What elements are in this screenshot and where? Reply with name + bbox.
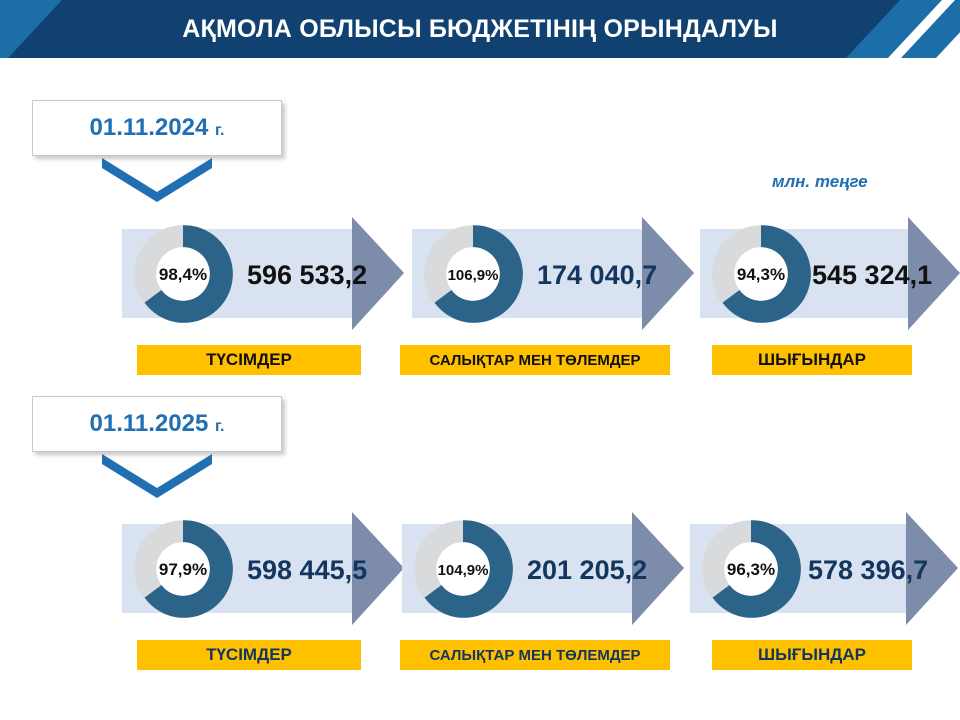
amount-value: 201 205,2 — [527, 552, 647, 588]
category-label-text: ТҮСІМДЕР — [206, 350, 292, 370]
category-label-bar: ТҮСІМДЕР — [137, 345, 361, 375]
page-title: АҚМОЛА ОБЛЫСЫ БЮДЖЕТІНІҢ ОРЫНДАЛУЫ — [0, 0, 960, 58]
date-group-row-1: 01.11.2024 г. — [32, 100, 282, 156]
category-label-bar: САЛЫҚТАР МЕН ТӨЛЕМДЕР — [400, 640, 670, 670]
metric-card-row2-col1: 97,9% 598 445,5 ТҮСІМДЕР — [122, 508, 412, 673]
percent-value: 94,3% — [700, 261, 822, 289]
percent-value: 104,9% — [402, 556, 524, 584]
chevron-down-icon-row-2 — [102, 454, 212, 500]
metric-card-row1-col2: 106,9% 174 040,7 САЛЫҚТАР МЕН ТӨЛЕМДЕР — [412, 213, 702, 378]
category-label-text: САЛЫҚТАР МЕН ТӨЛЕМДЕР — [429, 352, 640, 369]
metric-card-row1-col1: 98,4% 596 533,2 ТҮСІМДЕР — [122, 213, 412, 378]
percent-value: 98,4% — [122, 261, 244, 289]
chevron-down-icon-row-1 — [102, 158, 212, 204]
percent-value: 96,3% — [690, 556, 812, 584]
category-label-text: САЛЫҚТАР МЕН ТӨЛЕМДЕР — [429, 647, 640, 664]
category-label-text: ШЫҒЫНДАР — [758, 645, 866, 665]
metric-card-row2-col2: 104,9% 201 205,2 САЛЫҚТАР МЕН ТӨЛЕМДЕР — [402, 508, 692, 673]
date-box-row-2[interactable]: 01.11.2025 г. — [32, 396, 282, 452]
date-text-row-1: 01.11.2024 г. — [90, 114, 225, 142]
page-header: АҚМОЛА ОБЛЫСЫ БЮДЖЕТІНІҢ ОРЫНДАЛУЫ — [0, 0, 960, 58]
category-label-bar: ШЫҒЫНДАР — [712, 640, 912, 670]
percent-value: 97,9% — [122, 556, 244, 584]
metric-card-row1-col3: 94,3% 545 324,1 ШЫҒЫНДАР — [700, 213, 960, 378]
date-text-row-2: 01.11.2025 г. — [90, 410, 225, 438]
category-label-text: ШЫҒЫНДАР — [758, 350, 866, 370]
amount-value: 174 040,7 — [537, 257, 657, 293]
date-box-row-1[interactable]: 01.11.2024 г. — [32, 100, 282, 156]
amount-value: 596 533,2 — [247, 257, 367, 293]
amount-value: 578 396,7 — [808, 552, 928, 588]
category-label-bar: САЛЫҚТАР МЕН ТӨЛЕМДЕР — [400, 345, 670, 375]
category-label-bar: ТҮСІМДЕР — [137, 640, 361, 670]
amount-value: 598 445,5 — [247, 552, 367, 588]
date-group-row-2: 01.11.2025 г. — [32, 396, 282, 452]
units-label: млн. теңге — [772, 172, 868, 192]
metric-card-row2-col3: 96,3% 578 396,7 ШЫҒЫНДАР — [690, 508, 960, 673]
amount-value: 545 324,1 — [812, 257, 932, 293]
category-label-text: ТҮСІМДЕР — [206, 645, 292, 665]
percent-value: 106,9% — [412, 261, 534, 289]
category-label-bar: ШЫҒЫНДАР — [712, 345, 912, 375]
